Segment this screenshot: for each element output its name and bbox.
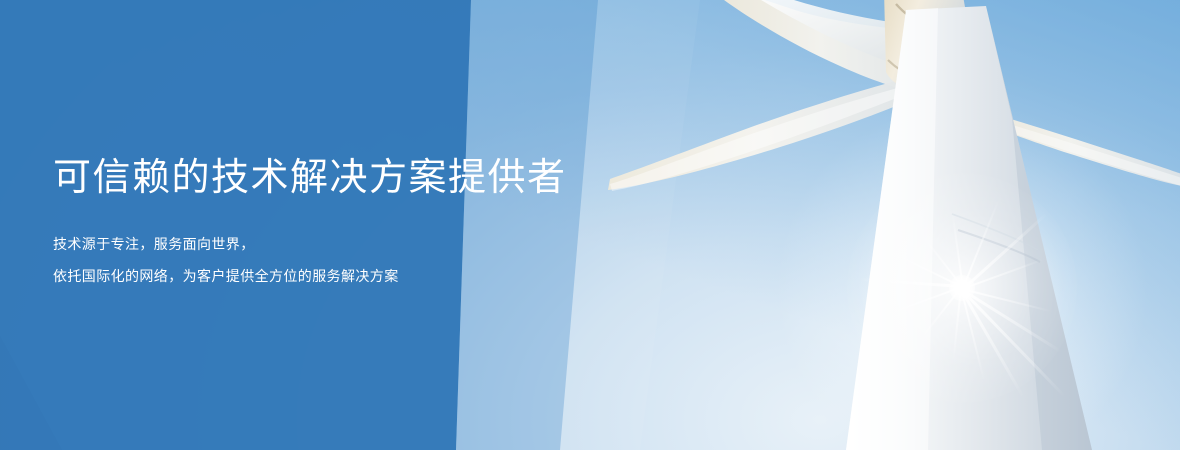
subtitle-line-1: 技术源于专注，服务面向世界， (53, 228, 399, 260)
hero-subtitle: 技术源于专注，服务面向世界， 依托国际化的网络，为客户提供全方位的服务解决方案 (53, 228, 399, 292)
sun-core (949, 275, 975, 301)
page-title: 可信赖的技术解决方案提供者 (53, 155, 567, 201)
hero-banner: 可信赖的技术解决方案提供者 技术源于专注，服务面向世界， 依托国际化的网络，为客… (0, 0, 1180, 450)
subtitle-line-2: 依托国际化的网络，为客户提供全方位的服务解决方案 (53, 260, 399, 292)
